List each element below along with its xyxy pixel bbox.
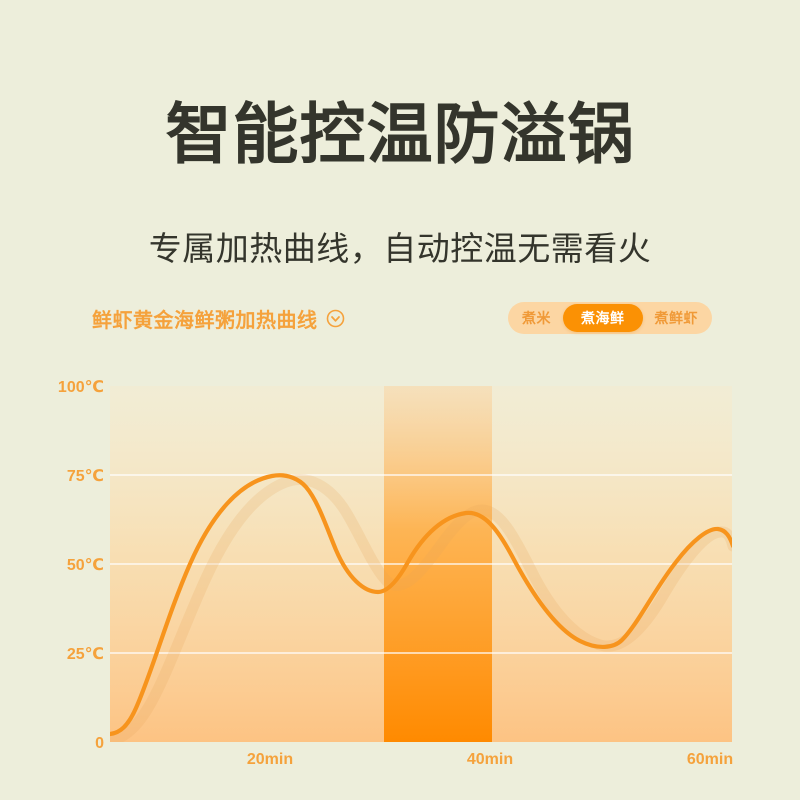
x-tick-20min: 20min xyxy=(247,751,293,768)
promo-page: 智能控温防溢锅 专属加热曲线，自动控温无需看火 鲜虾黄金海鲜粥加热曲线 煮米 煮… xyxy=(0,0,800,800)
page-subtitle: 专属加热曲线，自动控温无需看火 xyxy=(0,228,800,270)
chart-svg: 100℃ 75℃ 50℃ 25℃ 0 20min 40min 60min xyxy=(0,360,800,780)
mode-tab-group[interactable]: 煮米 煮海鲜 煮鲜虾 xyxy=(508,302,712,334)
chart-caption-label: 鲜虾黄金海鲜粥加热曲线 xyxy=(92,304,318,333)
tab-cook-rice[interactable]: 煮米 xyxy=(510,304,563,332)
page-title: 智能控温防溢锅 xyxy=(0,96,800,172)
y-axis-labels: 100℃ 75℃ 50℃ 25℃ 0 xyxy=(58,379,104,752)
chart-caption[interactable]: 鲜虾黄金海鲜粥加热曲线 xyxy=(92,300,345,336)
chevron-down-circle-icon[interactable] xyxy=(326,309,345,328)
y-tick-25: 25℃ xyxy=(67,646,104,663)
tab-cook-seafood[interactable]: 煮海鲜 xyxy=(563,304,643,332)
y-tick-50: 50℃ xyxy=(67,557,104,574)
x-tick-60min: 60min xyxy=(687,751,733,768)
x-axis-labels: 20min 40min 60min xyxy=(247,751,733,768)
y-tick-100: 100℃ xyxy=(58,379,104,396)
y-tick-0: 0 xyxy=(95,735,104,752)
y-tick-75: 75℃ xyxy=(67,468,104,485)
chart-caption-row: 鲜虾黄金海鲜粥加热曲线 煮米 煮海鲜 煮鲜虾 xyxy=(0,300,800,336)
heating-curve-chart: 100℃ 75℃ 50℃ 25℃ 0 20min 40min 60min xyxy=(0,360,800,780)
tab-cook-shrimp[interactable]: 煮鲜虾 xyxy=(643,304,711,332)
x-tick-40min: 40min xyxy=(467,751,513,768)
